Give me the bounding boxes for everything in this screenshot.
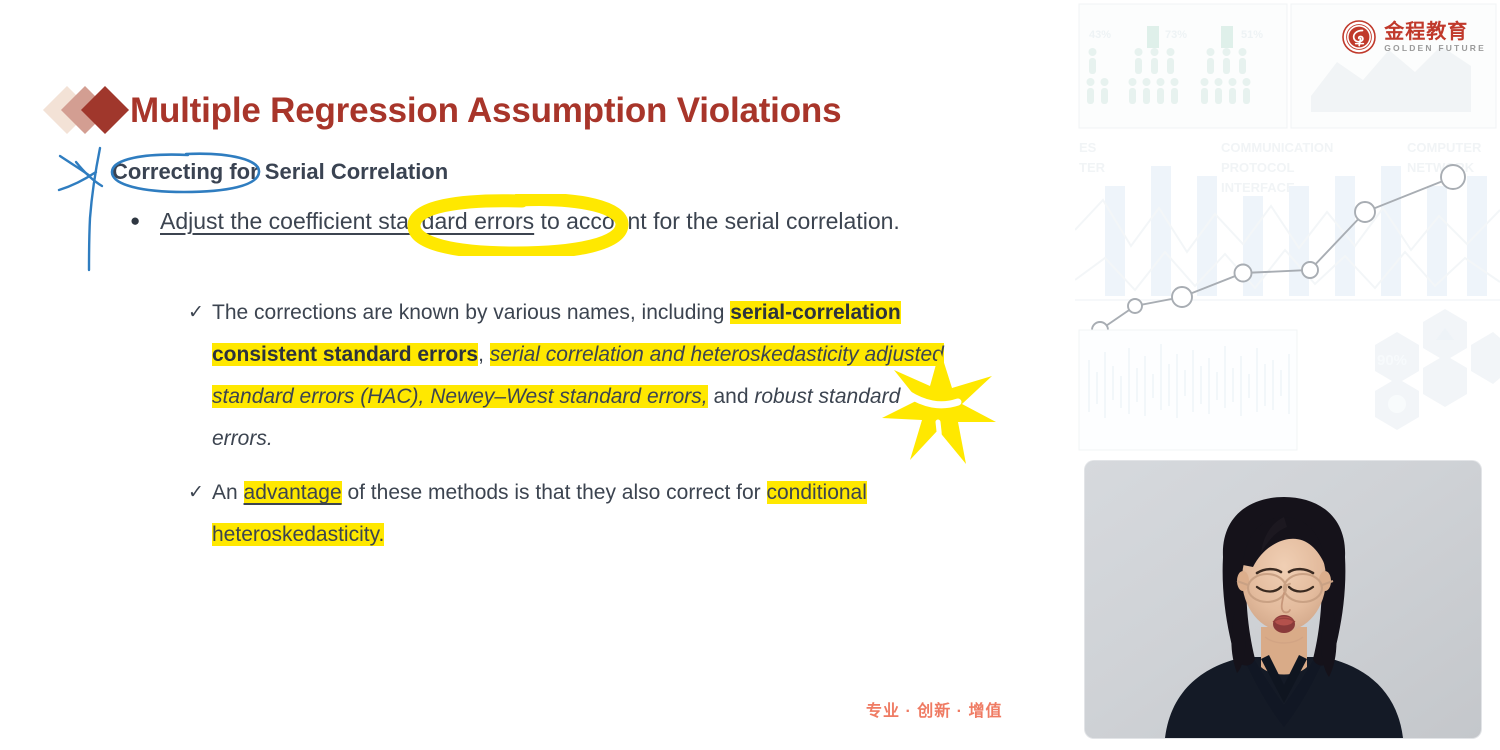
sub1-seg5: and	[708, 385, 755, 408]
svg-text:43%: 43%	[1089, 29, 1111, 41]
svg-text:INTERFACE: INTERFACE	[1221, 180, 1295, 195]
sub2-seg1: An	[212, 481, 244, 504]
svg-text:TER: TER	[1079, 160, 1106, 175]
svg-text:90%: 90%	[1377, 352, 1407, 369]
background-infographic-graphic: 43%73%51% ES TER COMMUNICATION PROTOCOL …	[1075, 0, 1500, 460]
sub-bullet-text: An advantage of these methods is that th…	[212, 472, 954, 556]
svg-text:COMMUNICATION: COMMUNICATION	[1221, 140, 1333, 155]
bullet-rest-text: to account for the serial correlation.	[534, 208, 900, 234]
sub2-seg3: of these methods is that they also corre…	[342, 481, 767, 504]
logo-chinese-name: 金程教育	[1384, 21, 1486, 43]
logo-english-name: GOLDEN FUTURE	[1384, 43, 1486, 54]
list-item: ✓ An advantage of these methods is that …	[188, 472, 958, 556]
presenter-webcam-tile[interactable]	[1085, 461, 1481, 738]
svg-text:PROTOCOL: PROTOCOL	[1221, 160, 1294, 175]
diamond-ornament-icon	[48, 84, 130, 136]
bullet-text: Adjust the coefficient standard errors t…	[160, 200, 920, 242]
bullet-dot-icon: ●	[130, 200, 160, 242]
page-title: Multiple Regression Assumption Violation…	[130, 93, 841, 128]
bullet-underlined-phrase: Adjust the coefficient standard errors	[160, 208, 534, 234]
sub-bullet-block: ✓ The corrections are known by various n…	[188, 292, 958, 568]
sub2-advantage-highlight: advantage	[244, 481, 342, 504]
list-item: ✓ The corrections are known by various n…	[188, 292, 958, 460]
webcam-video-frame	[1085, 461, 1481, 738]
right-panel: 43%73%51% ES TER COMMUNICATION PROTOCOL …	[1075, 0, 1500, 750]
logo-seal-icon	[1342, 20, 1376, 54]
checkmark-icon: ✓	[188, 292, 212, 334]
footer-slogan: 专业 · 创新 · 增值	[866, 697, 1002, 721]
svg-text:ES: ES	[1079, 140, 1097, 155]
slide-content-area: Multiple Regression Assumption Violation…	[0, 0, 1075, 750]
sub1-seg3: ,	[478, 343, 490, 366]
brand-logo: 金程教育 GOLDEN FUTURE	[1342, 18, 1486, 56]
svg-text:COMPUTER: COMPUTER	[1407, 140, 1482, 155]
presentation-slide: Multiple Regression Assumption Violation…	[0, 0, 1500, 750]
svg-text:73%: 73%	[1165, 29, 1187, 41]
subtitle-row: Correcting for Serial Correlation	[112, 157, 448, 187]
bullet-item: ● Adjust the coefficient standard errors…	[130, 200, 930, 242]
main-bullet-block: ● Adjust the coefficient standard errors…	[130, 200, 930, 242]
section-heading: Correcting for Serial Correlation	[112, 161, 448, 183]
checkmark-icon: ✓	[188, 472, 212, 514]
sub-bullet-text: The corrections are known by various nam…	[212, 292, 954, 460]
logo-wordmark: 金程教育 GOLDEN FUTURE	[1384, 21, 1486, 54]
sub1-seg1: The corrections are known by various nam…	[212, 301, 730, 324]
svg-text:51%: 51%	[1241, 29, 1263, 41]
title-row: Multiple Regression Assumption Violation…	[48, 82, 841, 138]
